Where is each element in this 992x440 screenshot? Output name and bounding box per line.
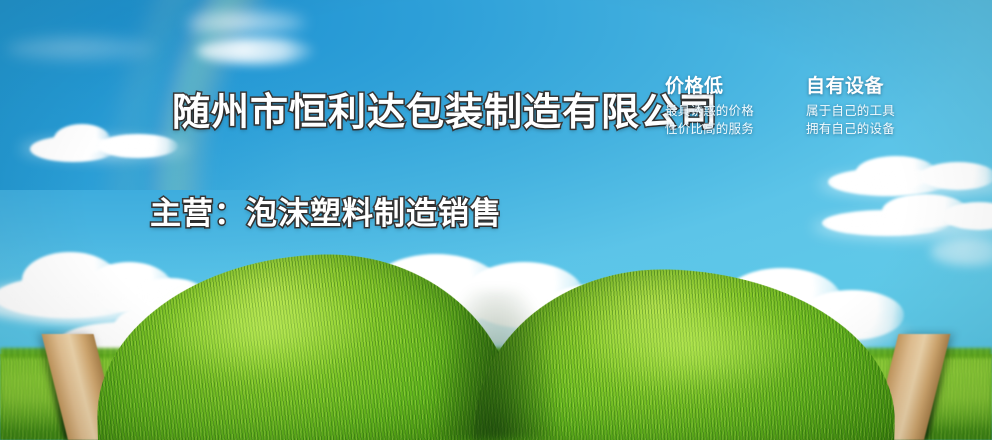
feature-block-price: 价格低 最具诱惑的价格 性价比高的服务 <box>665 76 754 138</box>
company-headline: 随州市恒利达包装制造有限公司 <box>172 94 718 132</box>
feature-line: 属于自己的工具 <box>806 102 895 120</box>
feature-title: 价格低 <box>665 76 754 98</box>
business-subline: 主营：泡沫塑料制造销售 <box>150 198 502 229</box>
feature-line: 性价比高的服务 <box>665 120 754 138</box>
feature-line: 最具诱惑的价格 <box>665 102 754 120</box>
book-spine-shadow <box>436 290 556 440</box>
feature-line: 拥有自己的设备 <box>806 120 895 138</box>
promo-banner: 随州市恒利达包装制造有限公司 主营：泡沫塑料制造销售 价格低 最具诱惑的价格 性… <box>0 0 992 440</box>
feature-title: 自有设备 <box>806 76 895 98</box>
feature-block-equipment: 自有设备 属于自己的工具 拥有自己的设备 <box>806 76 895 138</box>
